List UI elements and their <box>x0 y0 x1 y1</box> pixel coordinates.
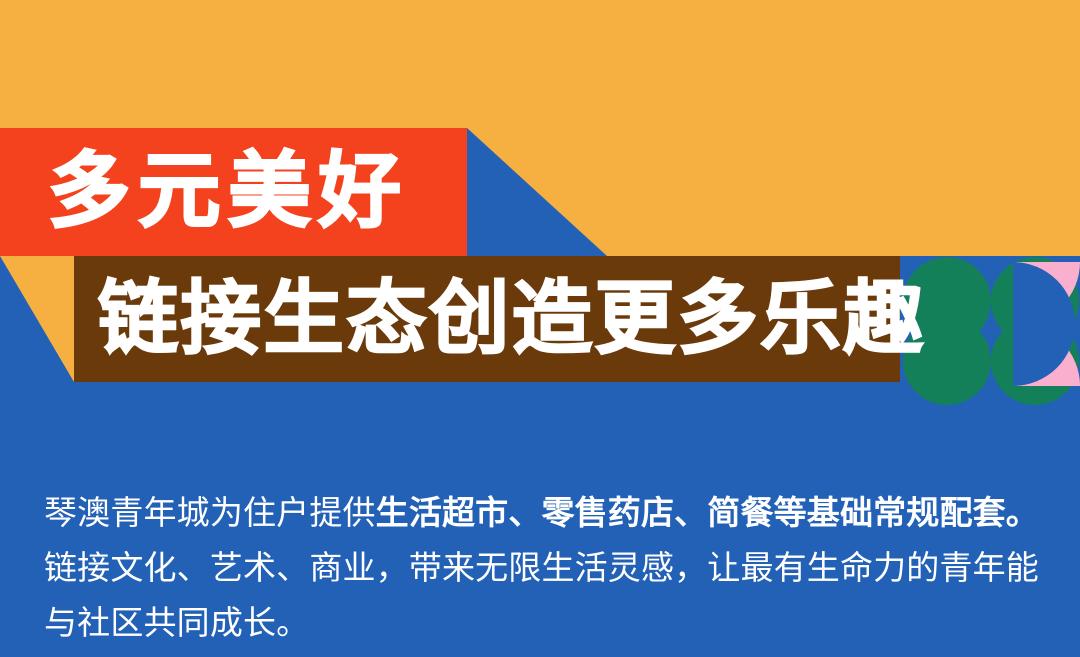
promo-poster: 多元美好 链接生态创造更多乐趣 琴澳青年城为住户提供生活超市、零售药店、简餐等基… <box>0 0 1080 657</box>
body-segment-1: 琴澳青年城为住户提供 <box>44 493 376 532</box>
headline-secondary: 链接生态创造更多乐趣 <box>98 277 926 361</box>
body-segment-emphasis: 生活超市、零售药店、简餐等基础常规配套。 <box>376 493 1039 532</box>
body-segment-3: 链接文化、艺术、商业，带来无限生活灵感，让最有生命力的青年能与社区共同成长。 <box>44 548 1039 642</box>
headline-primary: 多元美好 <box>48 149 409 235</box>
pink-petal-icon <box>1013 262 1080 386</box>
body-copy: 琴澳青年城为住户提供生活超市、零售药店、简餐等基础常规配套。链接文化、艺术、商业… <box>44 485 1042 650</box>
